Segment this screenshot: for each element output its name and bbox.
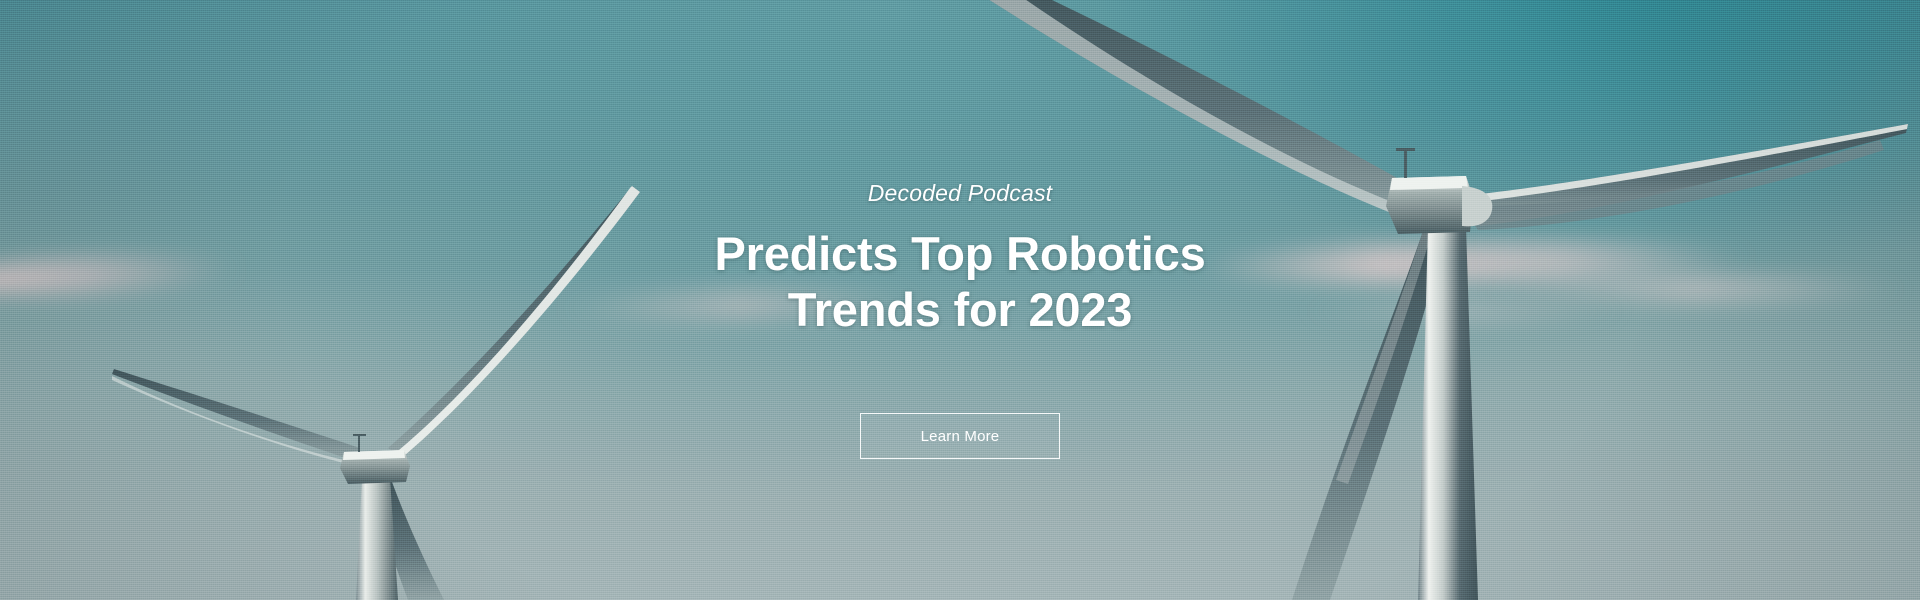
- hero-headline: Predicts Top Robotics Trends for 2023: [714, 226, 1205, 338]
- headline-line-2: Trends for 2023: [714, 282, 1205, 338]
- headline-line-1: Predicts Top Robotics: [714, 226, 1205, 282]
- hero-banner: Decoded Podcast Predicts Top Robotics Tr…: [0, 0, 1920, 600]
- hero-content: Decoded Podcast Predicts Top Robotics Tr…: [0, 0, 1920, 600]
- learn-more-button[interactable]: Learn More: [860, 413, 1060, 459]
- hero-eyebrow: Decoded Podcast: [868, 182, 1053, 205]
